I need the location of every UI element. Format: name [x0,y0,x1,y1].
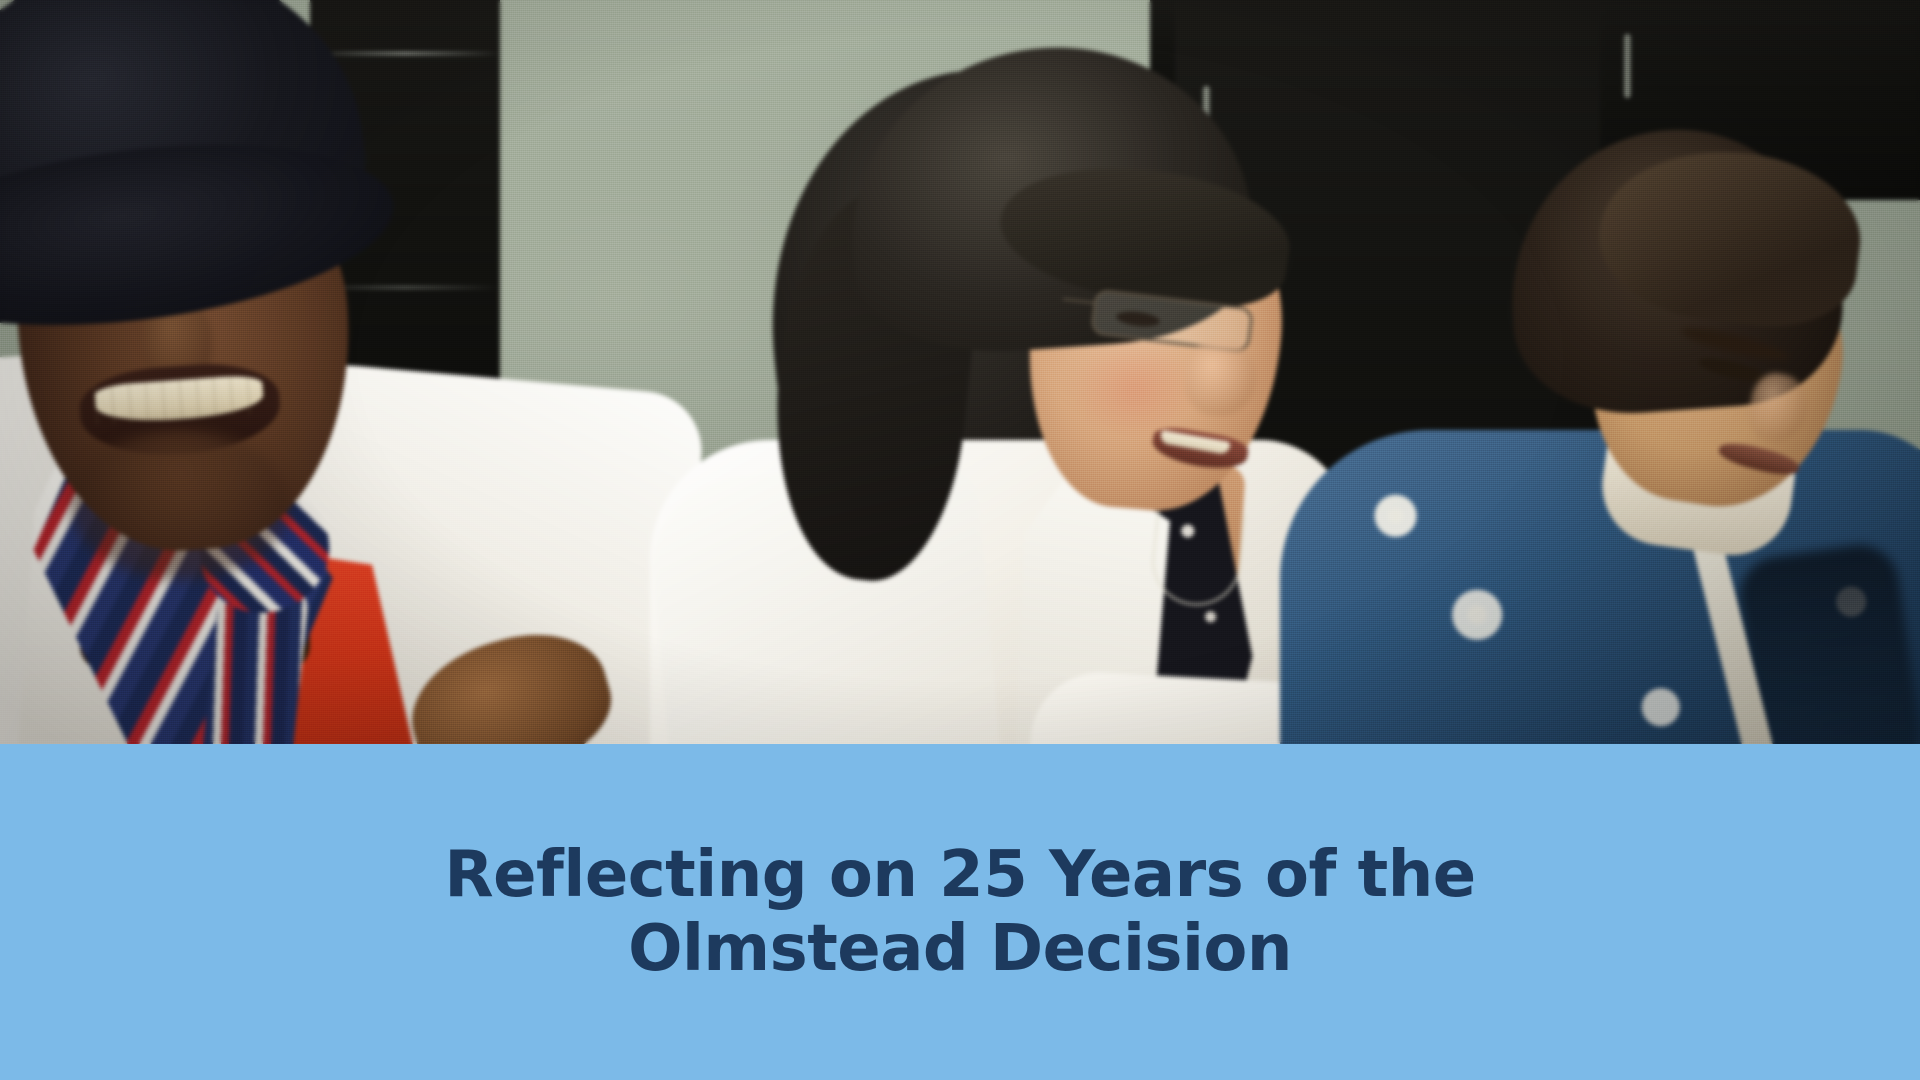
page-title-line-1: Reflecting on 25 Years of the [250,838,1670,912]
title-banner: Reflecting on 25 Years of the Olmstead D… [0,744,1920,1080]
page-root: Reflecting on 25 Years of the Olmstead D… [0,0,1920,1080]
person-left-teeth [94,374,264,424]
page-title-line-2: Olmstead Decision [250,912,1670,986]
person-center-cheek [1070,340,1200,440]
person-left-chin [70,430,290,580]
page-title: Reflecting on 25 Years of the Olmstead D… [250,838,1670,986]
person-right [1450,130,1920,744]
hero-photo [0,0,1920,744]
person-left [0,0,700,744]
